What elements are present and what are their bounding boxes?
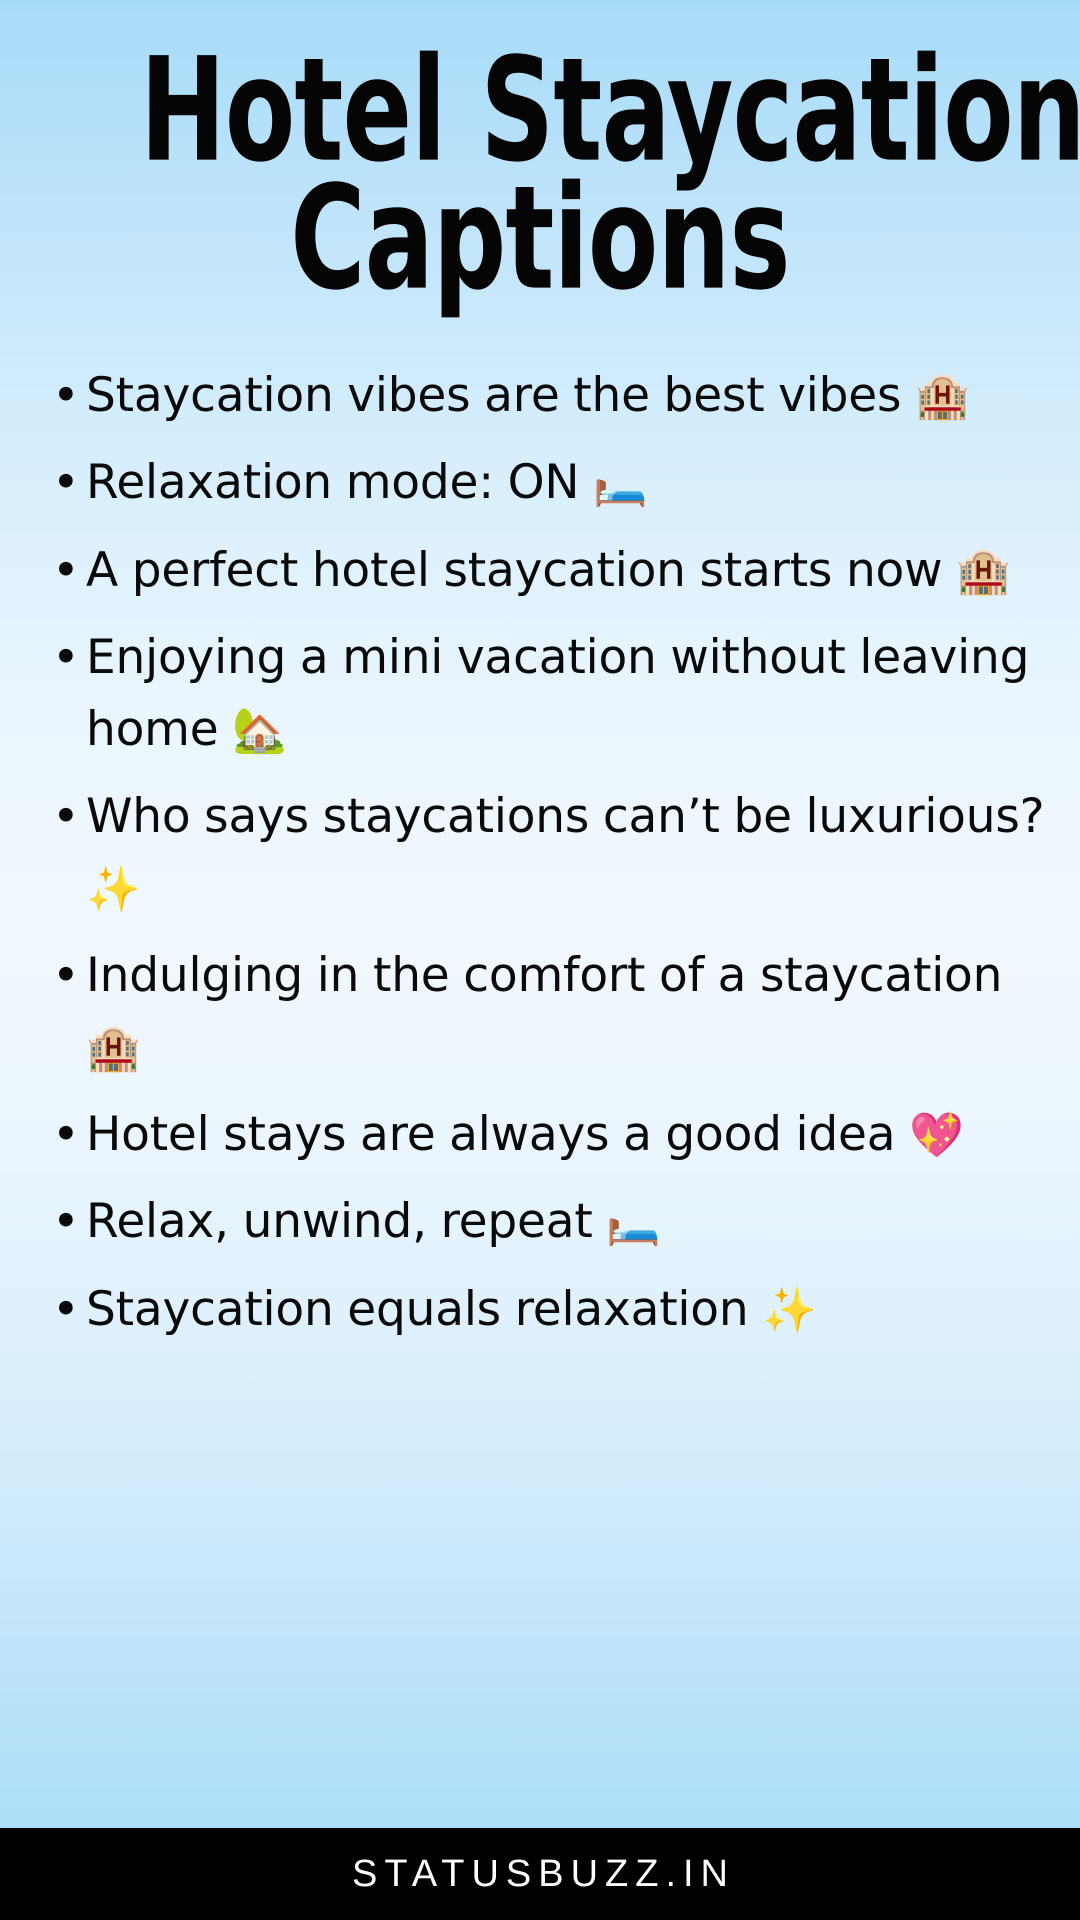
- hotel-emoji: 🏨: [956, 546, 1011, 597]
- page-title: Hotel Staycation Captions: [0, 42, 1080, 294]
- caption-text: Staycation vibes are the best vibes: [86, 368, 915, 423]
- sparkles-emoji: ✨: [86, 864, 141, 915]
- caption-text: Indulging in the comfort of a staycation: [86, 948, 1002, 1003]
- bullet-icon: •: [52, 781, 72, 852]
- caption-list: •Staycation vibes are the best vibes 🏨•R…: [0, 360, 1080, 1361]
- hotel-emoji: 🏨: [915, 371, 970, 422]
- bullet-icon: •: [52, 1274, 72, 1345]
- footer-bar: STATUSBUZZ.IN: [0, 1828, 1080, 1920]
- caption-text: Staycation equals relaxation: [86, 1282, 762, 1337]
- caption-list-item: •Enjoying a mini vacation without leavin…: [34, 622, 1046, 765]
- bullet-icon: •: [52, 1186, 72, 1257]
- caption-text: Enjoying a mini vacation without leaving…: [86, 630, 1029, 756]
- caption-list-item: •Staycation equals relaxation ✨: [34, 1274, 1046, 1345]
- bullet-icon: •: [52, 360, 72, 431]
- bed-emoji: 🛏️: [593, 458, 648, 509]
- caption-text: Who says staycations can’t be luxurious?: [86, 789, 1044, 844]
- bullet-icon: •: [52, 447, 72, 518]
- caption-list-item: •Indulging in the comfort of a staycatio…: [34, 940, 1046, 1083]
- caption-text: A perfect hotel staycation starts now: [86, 543, 956, 598]
- house-with-garden-emoji: 🏡: [232, 705, 287, 756]
- caption-text: Hotel stays are always a good idea: [86, 1107, 909, 1162]
- hotel-emoji: 🏨: [86, 1023, 141, 1074]
- caption-text: Relaxation mode: ON: [86, 455, 593, 510]
- caption-list-item: •Relaxation mode: ON 🛏️: [34, 447, 1046, 518]
- caption-list-item: •Hotel stays are always a good idea 💖: [34, 1099, 1046, 1170]
- bullet-icon: •: [52, 622, 72, 693]
- bed-emoji: 🛏️: [606, 1197, 661, 1248]
- caption-list-item: •Relax, unwind, repeat 🛏️: [34, 1186, 1046, 1257]
- title-line-2: Captions: [140, 170, 940, 309]
- bullet-icon: •: [52, 1099, 72, 1170]
- caption-list-item: •Staycation vibes are the best vibes 🏨: [34, 360, 1046, 431]
- caption-list-item: •A perfect hotel staycation starts now 🏨: [34, 535, 1046, 606]
- bullet-icon: •: [52, 940, 72, 1011]
- poster-canvas: Hotel Staycation Captions •Staycation vi…: [0, 0, 1080, 1920]
- caption-list-item: •Who says staycations can’t be luxurious…: [34, 781, 1046, 924]
- sparkles-emoji: ✨: [762, 1285, 817, 1336]
- caption-text: Relax, unwind, repeat: [86, 1194, 606, 1249]
- bullet-icon: •: [52, 535, 72, 606]
- sparkling-heart-emoji: 💖: [909, 1110, 964, 1161]
- footer-brand-text: STATUSBUZZ.IN: [345, 1853, 735, 1896]
